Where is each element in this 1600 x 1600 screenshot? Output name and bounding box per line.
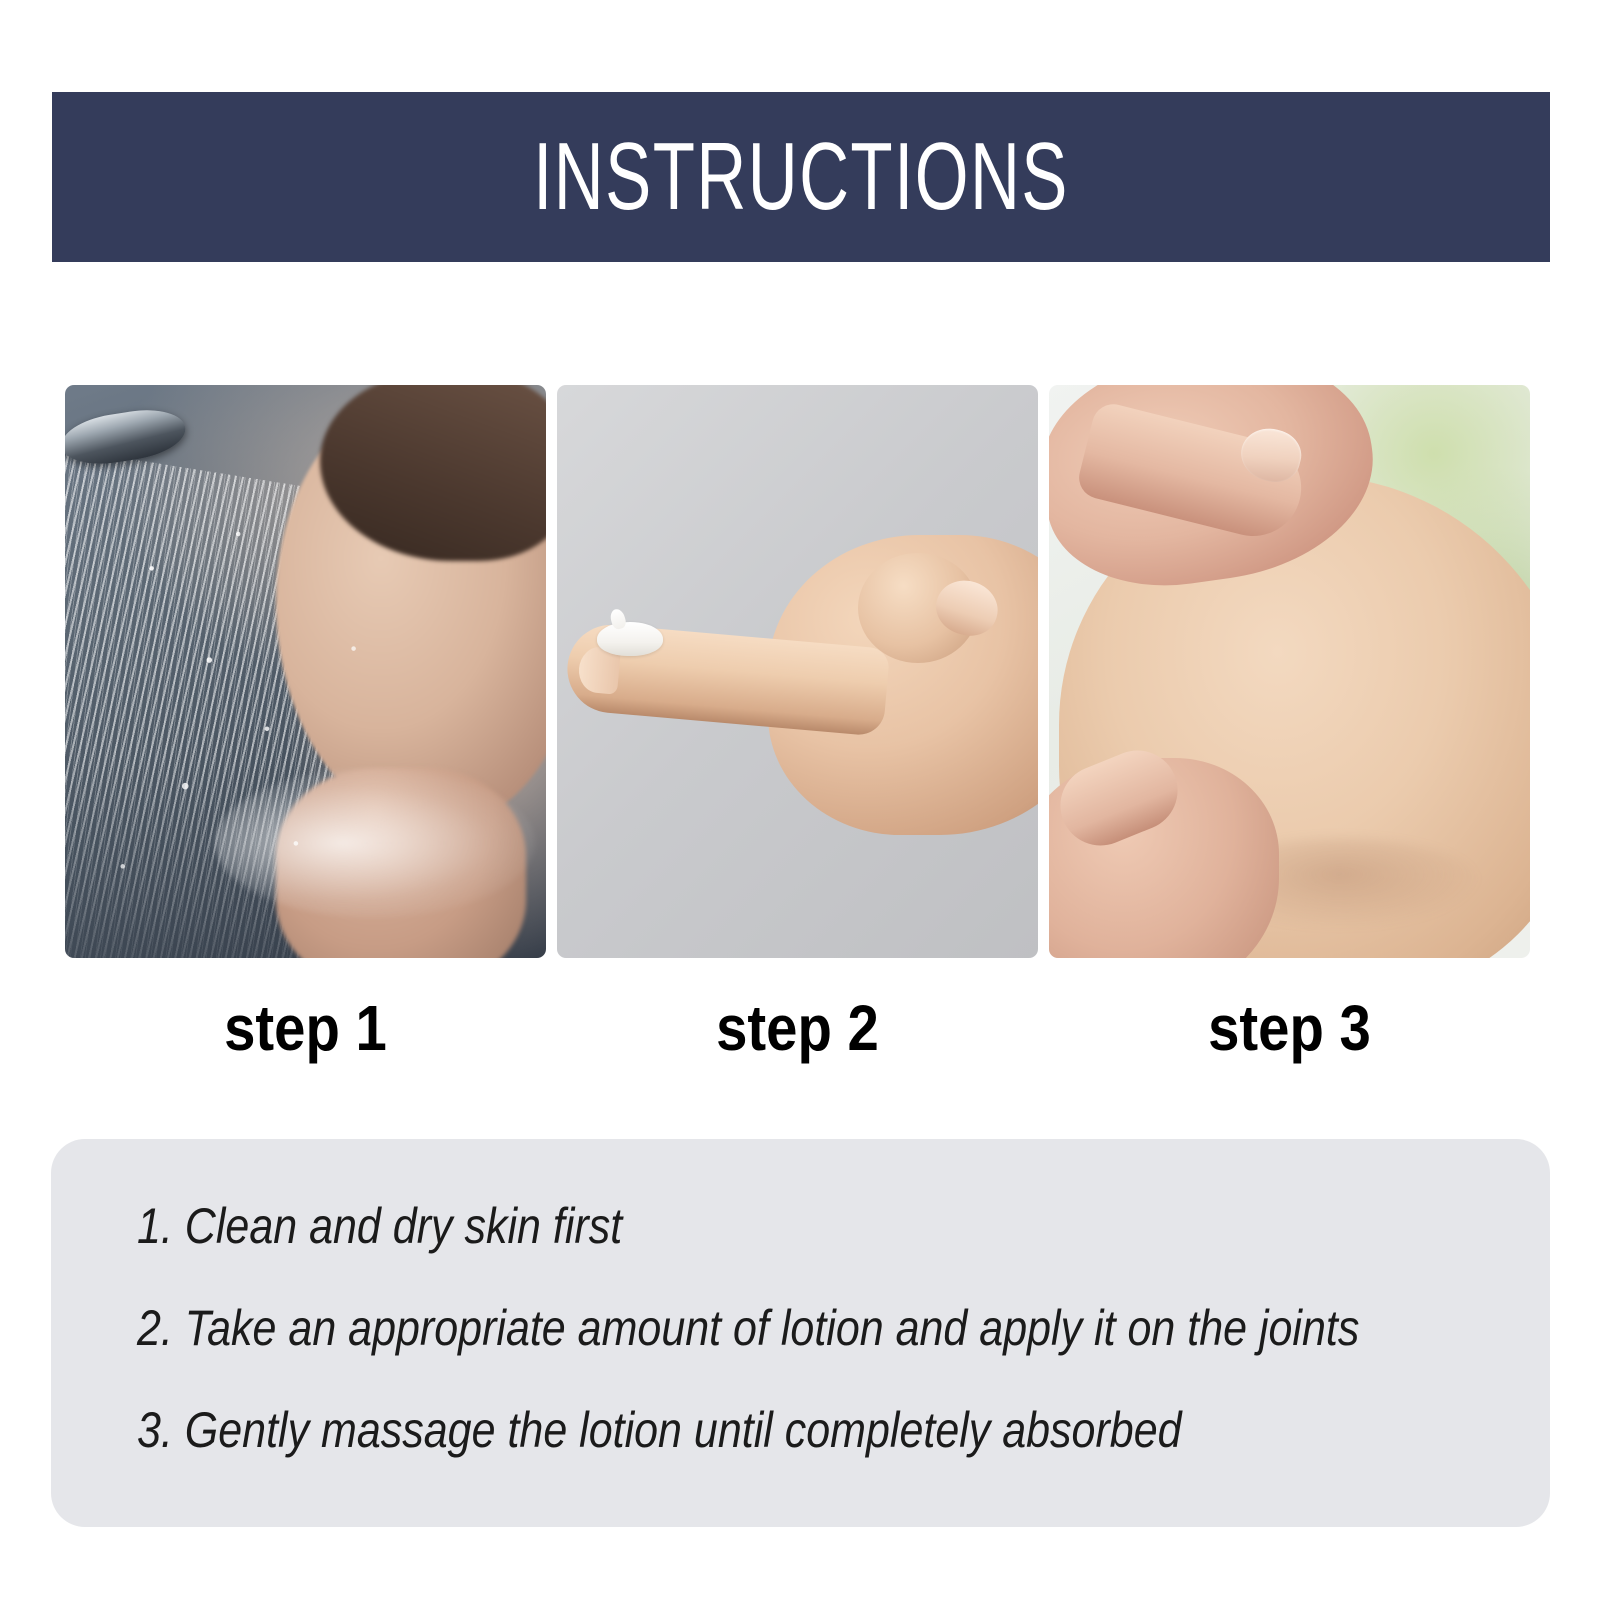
shower-photo — [65, 385, 546, 958]
cream-on-finger-photo — [557, 385, 1038, 958]
instructions-list: 1. Clean and dry skin first 2. Take an a… — [137, 1201, 1490, 1455]
list-item: 1. Clean and dry skin first — [137, 1201, 1301, 1251]
list-item: 2. Take an appropriate amount of lotion … — [137, 1303, 1301, 1353]
step-label-2: step 2 — [716, 996, 879, 1060]
step-label-3: step 3 — [1208, 996, 1371, 1060]
massage-joint-photo — [1049, 385, 1530, 958]
instructions-notes-panel: 1. Clean and dry skin first 2. Take an a… — [51, 1139, 1550, 1527]
step-label-1: step 1 — [224, 996, 387, 1060]
step-item-2: step 2 — [557, 385, 1038, 1060]
water-splash-graphic — [215, 768, 535, 918]
instructions-header-banner: INSTRUCTIONS — [52, 92, 1550, 262]
lotion-dollop-graphic — [597, 622, 663, 656]
step-item-3: step 3 — [1049, 385, 1530, 1060]
page-title: INSTRUCTIONS — [533, 129, 1069, 225]
list-item: 3. Gently massage the lotion until compl… — [137, 1405, 1301, 1455]
steps-row: step 1 step 2 step 3 — [65, 385, 1530, 1060]
step-item-1: step 1 — [65, 385, 546, 1060]
